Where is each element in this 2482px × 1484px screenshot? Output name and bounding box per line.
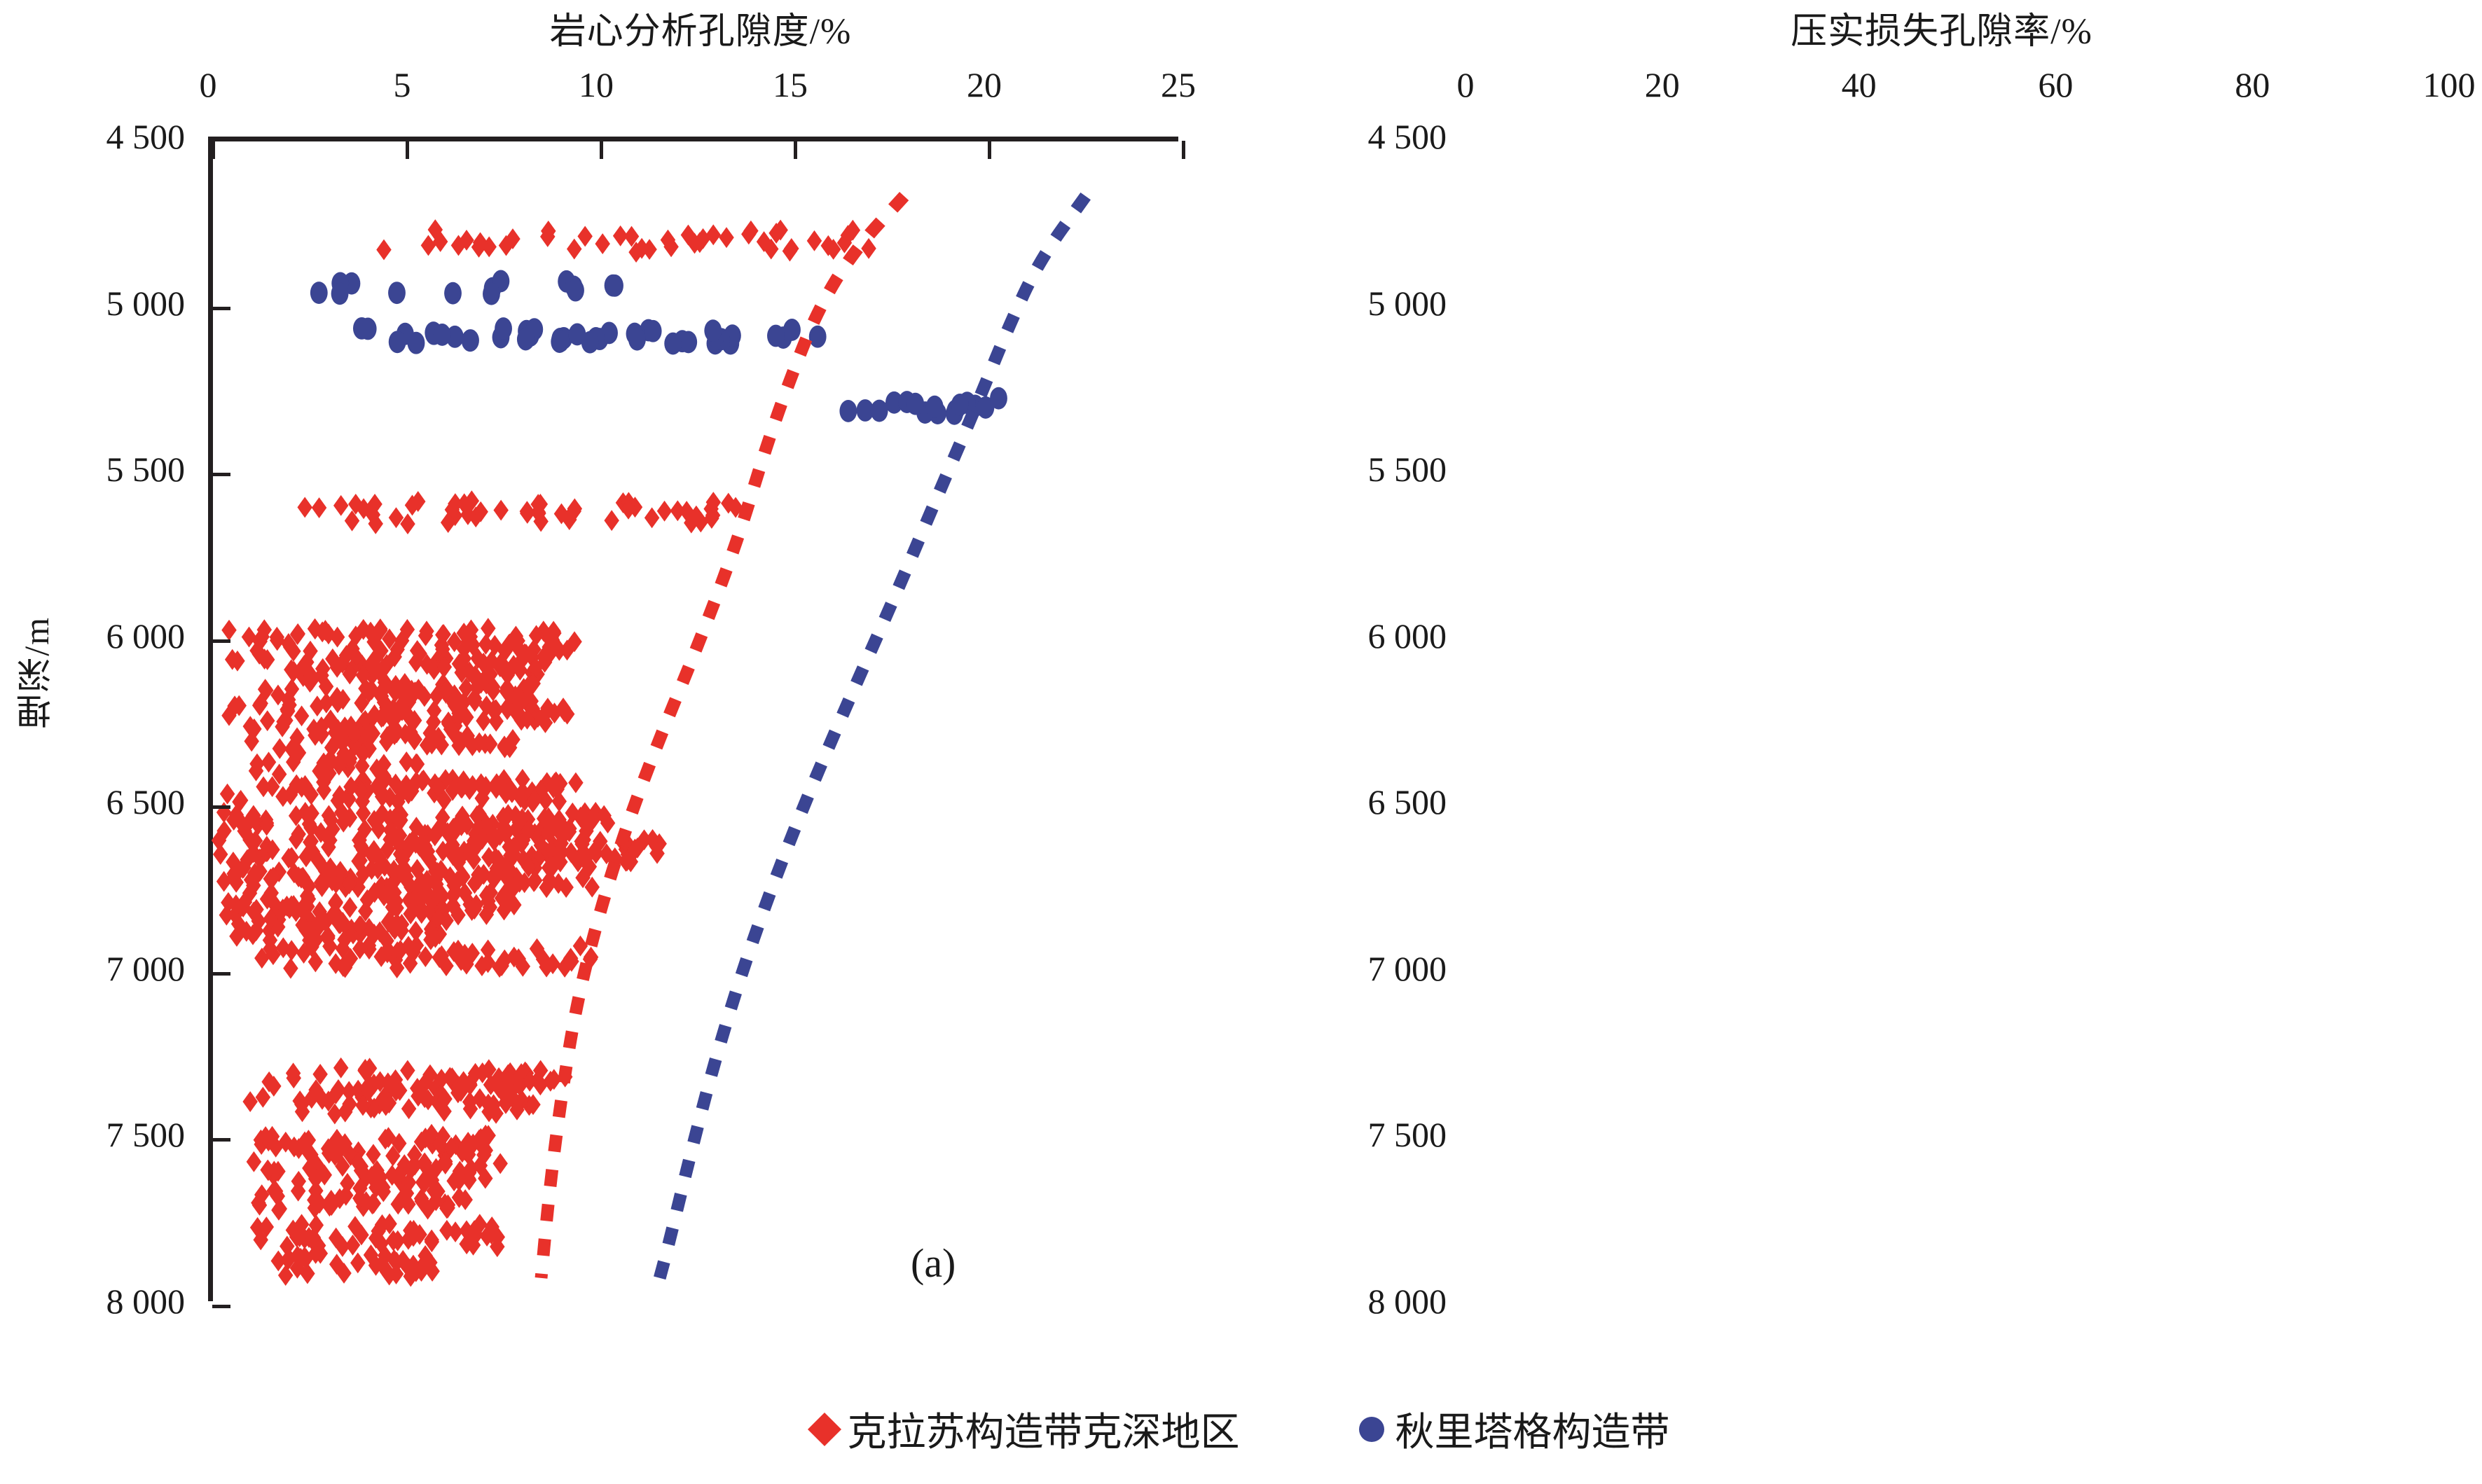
y-tick-mark (212, 639, 230, 643)
data-point-circle (462, 329, 479, 352)
data-point-circle (628, 328, 646, 351)
trend-line (657, 196, 1086, 1288)
x-tick-label: 25 (1161, 64, 1196, 105)
data-point-circle (644, 320, 662, 342)
x-tick-label: 10 (579, 64, 614, 105)
x-tick-label: 100 (2423, 64, 2476, 105)
data-point-diamond (283, 958, 298, 979)
data-point-diamond (256, 776, 270, 797)
data-point-diamond (719, 227, 733, 248)
data-point-diamond (644, 507, 659, 528)
data-point-circle (581, 331, 599, 354)
y-tick-mark (212, 1138, 230, 1142)
y-tick-label: 7 500 (106, 1114, 186, 1155)
legend-label-kelasu: 克拉苏构造带克深地区 (848, 1401, 1240, 1457)
data-point-circle (389, 331, 406, 353)
data-point-diamond (261, 751, 276, 772)
x-tick-mark (794, 141, 797, 159)
data-point-circle (483, 283, 500, 305)
y-tick-label: 5 500 (106, 449, 186, 490)
data-point-circle (552, 330, 570, 352)
data-point-circle (906, 393, 924, 415)
legend-label-qiulitage: 秋里塔格构造带 (1395, 1401, 1670, 1457)
x-tick-label: 60 (2038, 64, 2073, 105)
panel-a: 岩心分析孔隙度/% 埋深/m 05101520254 5005 0005 500… (0, 0, 1233, 1373)
data-point-circle (331, 282, 349, 305)
series-kelasu (212, 219, 876, 1287)
x-tick-mark (212, 141, 215, 159)
data-point-diamond (341, 1081, 356, 1102)
x-tick-label: 0 (1457, 64, 1475, 105)
y-tick-mark (212, 972, 230, 976)
data-point-diamond (294, 705, 309, 726)
y-tick-label: 4 500 (1368, 116, 1447, 157)
x-tick-mark (600, 141, 603, 159)
data-point-circle (871, 400, 888, 422)
y-tick-label: 5 500 (1368, 449, 1447, 490)
y-tick-mark (212, 307, 230, 310)
y-tick-label: 6 500 (106, 782, 186, 822)
data-point-diamond (350, 1252, 365, 1273)
panel-a-scatter-layer (213, 141, 1178, 1301)
x-tick-mark (988, 141, 991, 159)
data-point-diamond (345, 511, 359, 532)
data-point-diamond (613, 226, 628, 247)
data-point-diamond (492, 1153, 507, 1174)
x-tick-label: 0 (200, 64, 217, 105)
data-point-circle (408, 332, 425, 354)
figure-legend: 克拉苏构造带克深地区 秋里塔格构造带 (0, 1401, 2482, 1457)
data-point-diamond (401, 1098, 416, 1119)
data-point-diamond (284, 847, 298, 868)
data-point-diamond (333, 495, 348, 516)
x-tick-label: 80 (2235, 64, 2270, 105)
data-point-diamond (861, 238, 876, 259)
data-point-circle (495, 317, 512, 340)
data-point-diamond (221, 620, 236, 641)
data-point-circle (444, 282, 462, 305)
data-point-circle (951, 394, 969, 416)
data-point-diamond (705, 224, 720, 245)
data-point-diamond (333, 1057, 348, 1079)
panel-b-title: 压实损失孔隙率/% (1233, 1, 2482, 54)
data-point-diamond (493, 500, 508, 521)
data-point-circle (434, 324, 451, 346)
data-point-diamond (247, 1151, 261, 1172)
legend-item-kelasu: 克拉苏构造带克深地区 (813, 1401, 1240, 1457)
data-point-circle (359, 318, 377, 340)
y-tick-mark (212, 1305, 230, 1308)
data-point-diamond (312, 497, 326, 518)
data-point-circle (839, 400, 857, 422)
y-tick-label: 5 000 (1368, 283, 1447, 324)
data-point-circle (990, 387, 1007, 410)
data-point-diamond (242, 1091, 257, 1112)
data-point-circle (926, 396, 944, 418)
panel-b: 压实损失孔隙率/% 埋深/m 0204060801004 5005 0005 5… (1233, 0, 2482, 1373)
data-point-circle (310, 282, 328, 304)
data-point-circle (704, 319, 722, 342)
data-point-circle (809, 326, 827, 348)
red-diamond-marker-icon (807, 1412, 841, 1445)
data-point-circle (664, 333, 682, 355)
data-point-diamond (297, 497, 312, 518)
data-point-diamond (400, 1060, 415, 1081)
panel-a-plot-area (208, 137, 1178, 1301)
data-point-diamond (604, 510, 619, 531)
y-tick-label: 6 000 (106, 616, 186, 656)
legend-item-qiulitage: 秋里塔格构造带 (1359, 1401, 1670, 1457)
data-point-circle (388, 282, 406, 304)
data-point-diamond (657, 501, 672, 522)
x-tick-mark (1182, 141, 1185, 159)
data-point-diamond (376, 240, 391, 261)
data-point-diamond (567, 239, 581, 260)
x-tick-label: 5 (394, 64, 411, 105)
data-point-circle (517, 328, 535, 351)
panel-a-title: 岩心分析孔隙度/% (0, 1, 1317, 54)
data-point-diamond (670, 500, 685, 521)
y-tick-label: 8 000 (1368, 1281, 1447, 1322)
panel-a-y-axis-title: 埋深/m (11, 616, 62, 729)
x-tick-label: 15 (773, 64, 808, 105)
y-tick-label: 7 000 (106, 948, 186, 989)
y-tick-mark (212, 805, 230, 809)
x-tick-label: 40 (1842, 64, 1877, 105)
data-point-diamond (481, 618, 495, 639)
data-point-diamond (807, 230, 822, 251)
figure-root: 岩心分析孔隙度/% 埋深/m 05101520254 5005 0005 500… (0, 0, 2482, 1484)
data-point-circle (567, 279, 584, 302)
trend-line (542, 196, 904, 1278)
data-point-circle (605, 275, 622, 297)
series-qiulitage (310, 270, 1007, 425)
data-point-diamond (568, 772, 583, 793)
data-point-diamond (366, 1144, 380, 1165)
data-point-diamond (595, 233, 609, 254)
x-tick-mark (406, 141, 409, 159)
y-tick-label: 4 500 (106, 116, 186, 157)
y-tick-label: 7 000 (1368, 948, 1447, 989)
y-tick-label: 6 000 (1368, 616, 1447, 656)
y-tick-label: 5 000 (106, 283, 186, 324)
x-tick-label: 20 (1645, 64, 1680, 105)
panel-a-tag: (a) (911, 1240, 956, 1287)
y-tick-label: 7 500 (1368, 1114, 1447, 1155)
y-tick-label: 6 500 (1368, 782, 1447, 822)
x-tick-label: 20 (967, 64, 1002, 105)
data-point-diamond (573, 936, 588, 957)
data-point-diamond (577, 226, 592, 247)
data-point-diamond (421, 235, 436, 256)
data-point-circle (767, 325, 785, 347)
data-point-diamond (260, 710, 275, 731)
y-tick-label: 8 000 (106, 1281, 186, 1322)
blue-circle-marker-icon (1359, 1417, 1384, 1442)
y-tick-mark (212, 473, 230, 476)
